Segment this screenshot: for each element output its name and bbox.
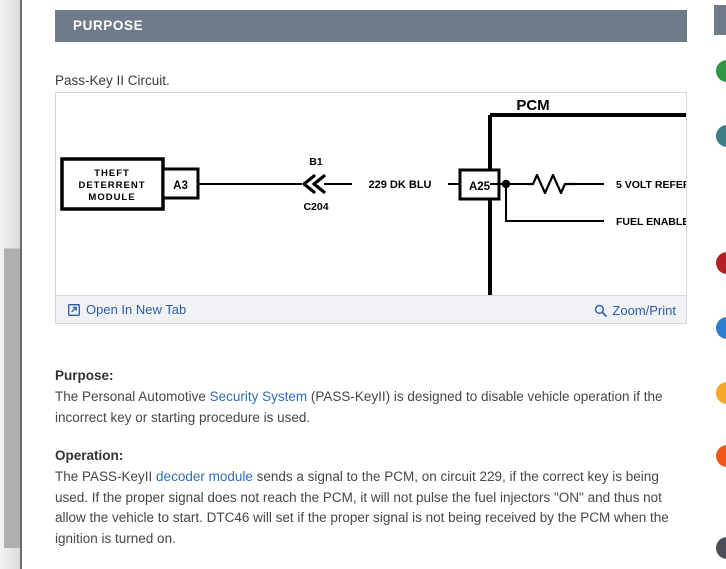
resistor-symbol bbox=[528, 175, 576, 193]
link-security-system[interactable]: Security System bbox=[210, 389, 308, 404]
purpose-heading: Purpose: bbox=[55, 368, 689, 383]
diagram-toolbar: Open In New Tab Zoom/Print bbox=[56, 295, 686, 323]
scrollbar-thumb[interactable] bbox=[4, 248, 20, 548]
label-module-line3: MODULE bbox=[88, 192, 135, 203]
connector-c204-chevron bbox=[304, 176, 324, 192]
label-module-line1: THEFT bbox=[94, 168, 130, 179]
purpose-text: The Personal Automotive Security System … bbox=[55, 387, 689, 428]
pass-key-ii-circuit-svg: PCM THEFT DETERRENT MODULE A3 bbox=[56, 93, 686, 296]
rail-header-block bbox=[714, 5, 726, 35]
label-pin-a25: A25 bbox=[469, 181, 491, 193]
label-pin-a3: A3 bbox=[173, 180, 188, 192]
magnifier-icon bbox=[594, 304, 607, 317]
external-link-icon bbox=[68, 304, 80, 316]
diagram-caption: Pass-Key II Circuit. bbox=[55, 73, 170, 88]
section-header-purpose: PURPOSE bbox=[55, 10, 687, 42]
open-in-new-tab-label: Open In New Tab bbox=[86, 296, 186, 324]
rail-swatch-red[interactable] bbox=[716, 252, 726, 274]
right-rail bbox=[702, 0, 726, 569]
content-area: PURPOSE Pass-Key II Circuit. PCM THEFT D… bbox=[24, 0, 702, 569]
label-connector-c204: C204 bbox=[303, 201, 328, 213]
open-in-new-tab-button[interactable]: Open In New Tab bbox=[68, 296, 186, 324]
rail-swatch-darkgray[interactable] bbox=[716, 537, 726, 559]
label-5-volt-reference: 5 VOLT REFERENCE bbox=[616, 179, 686, 191]
rail-swatch-teal[interactable] bbox=[716, 125, 726, 147]
zoom-print-button[interactable]: Zoom/Print bbox=[594, 296, 676, 324]
label-connector-b1: B1 bbox=[309, 156, 323, 168]
operation-heading: Operation: bbox=[55, 448, 689, 463]
label-pcm: PCM bbox=[516, 97, 549, 114]
rail-swatch-blue[interactable] bbox=[716, 317, 726, 339]
purpose-text-before: The Personal Automotive bbox=[55, 389, 210, 404]
circuit-diagram-panel: PCM THEFT DETERRENT MODULE A3 bbox=[55, 92, 687, 324]
label-module-line2: DETERRENT bbox=[78, 180, 145, 191]
rail-swatch-orange[interactable] bbox=[716, 445, 726, 467]
circuit-diagram-image[interactable]: PCM THEFT DETERRENT MODULE A3 bbox=[56, 93, 686, 296]
operation-text-before: The PASS-KeyII bbox=[55, 469, 156, 484]
rail-swatch-yellow[interactable] bbox=[716, 382, 726, 404]
operation-section: Operation: The PASS-KeyII decoder module… bbox=[55, 448, 689, 550]
label-fuel-enable-signal: FUEL ENABLE SIGNAL bbox=[616, 216, 686, 228]
wire-fuel-enable-branch bbox=[506, 184, 604, 221]
operation-text: The PASS-KeyII decoder module sends a si… bbox=[55, 467, 689, 550]
purpose-section: Purpose: The Personal Automotive Securit… bbox=[55, 368, 689, 428]
rail-swatch-green[interactable] bbox=[716, 60, 726, 82]
label-wire-229-dk-blu: 229 DK BLU bbox=[369, 179, 432, 191]
page-root: PURPOSE Pass-Key II Circuit. PCM THEFT D… bbox=[0, 0, 726, 569]
zoom-print-label: Zoom/Print bbox=[612, 303, 676, 318]
link-decoder-module[interactable]: decoder module bbox=[156, 469, 253, 484]
vertical-scrollbar[interactable] bbox=[0, 0, 22, 569]
